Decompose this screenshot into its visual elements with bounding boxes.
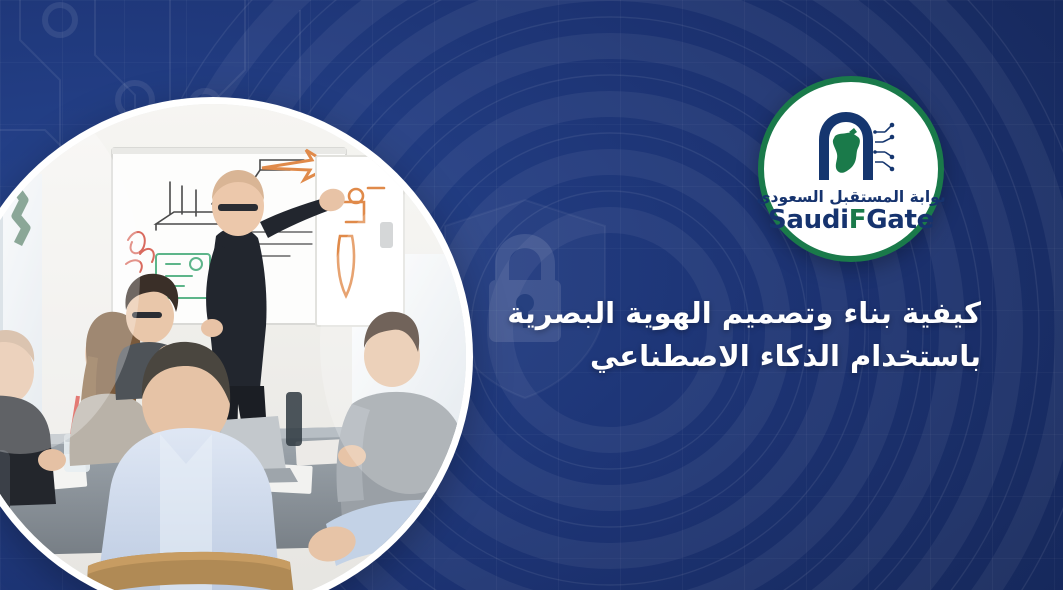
- title-line-2: باستخدام الذكاء الاصطناعي: [461, 335, 981, 378]
- logo-badge[interactable]: بوابة المستقبل السعودي SaudiFGate: [758, 76, 944, 262]
- title-line-1: كيفية بناء وتصميم الهوية البصرية: [461, 292, 981, 335]
- logo-arabic-name: بوابة المستقبل السعودي: [756, 189, 945, 206]
- page-title: كيفية بناء وتصميم الهوية البصرية باستخدا…: [461, 292, 981, 377]
- logo-latin-part-1: Saudi: [768, 205, 849, 235]
- logo-latin-part-2: F: [849, 205, 866, 235]
- workshop-photo: API: [0, 104, 466, 590]
- logo-latin-part-3: Gate: [866, 205, 934, 235]
- banner-root: API: [0, 0, 1063, 590]
- logo-latin-name: SaudiFGate: [768, 207, 934, 234]
- gate-arch-saudi-map-icon: [805, 106, 897, 184]
